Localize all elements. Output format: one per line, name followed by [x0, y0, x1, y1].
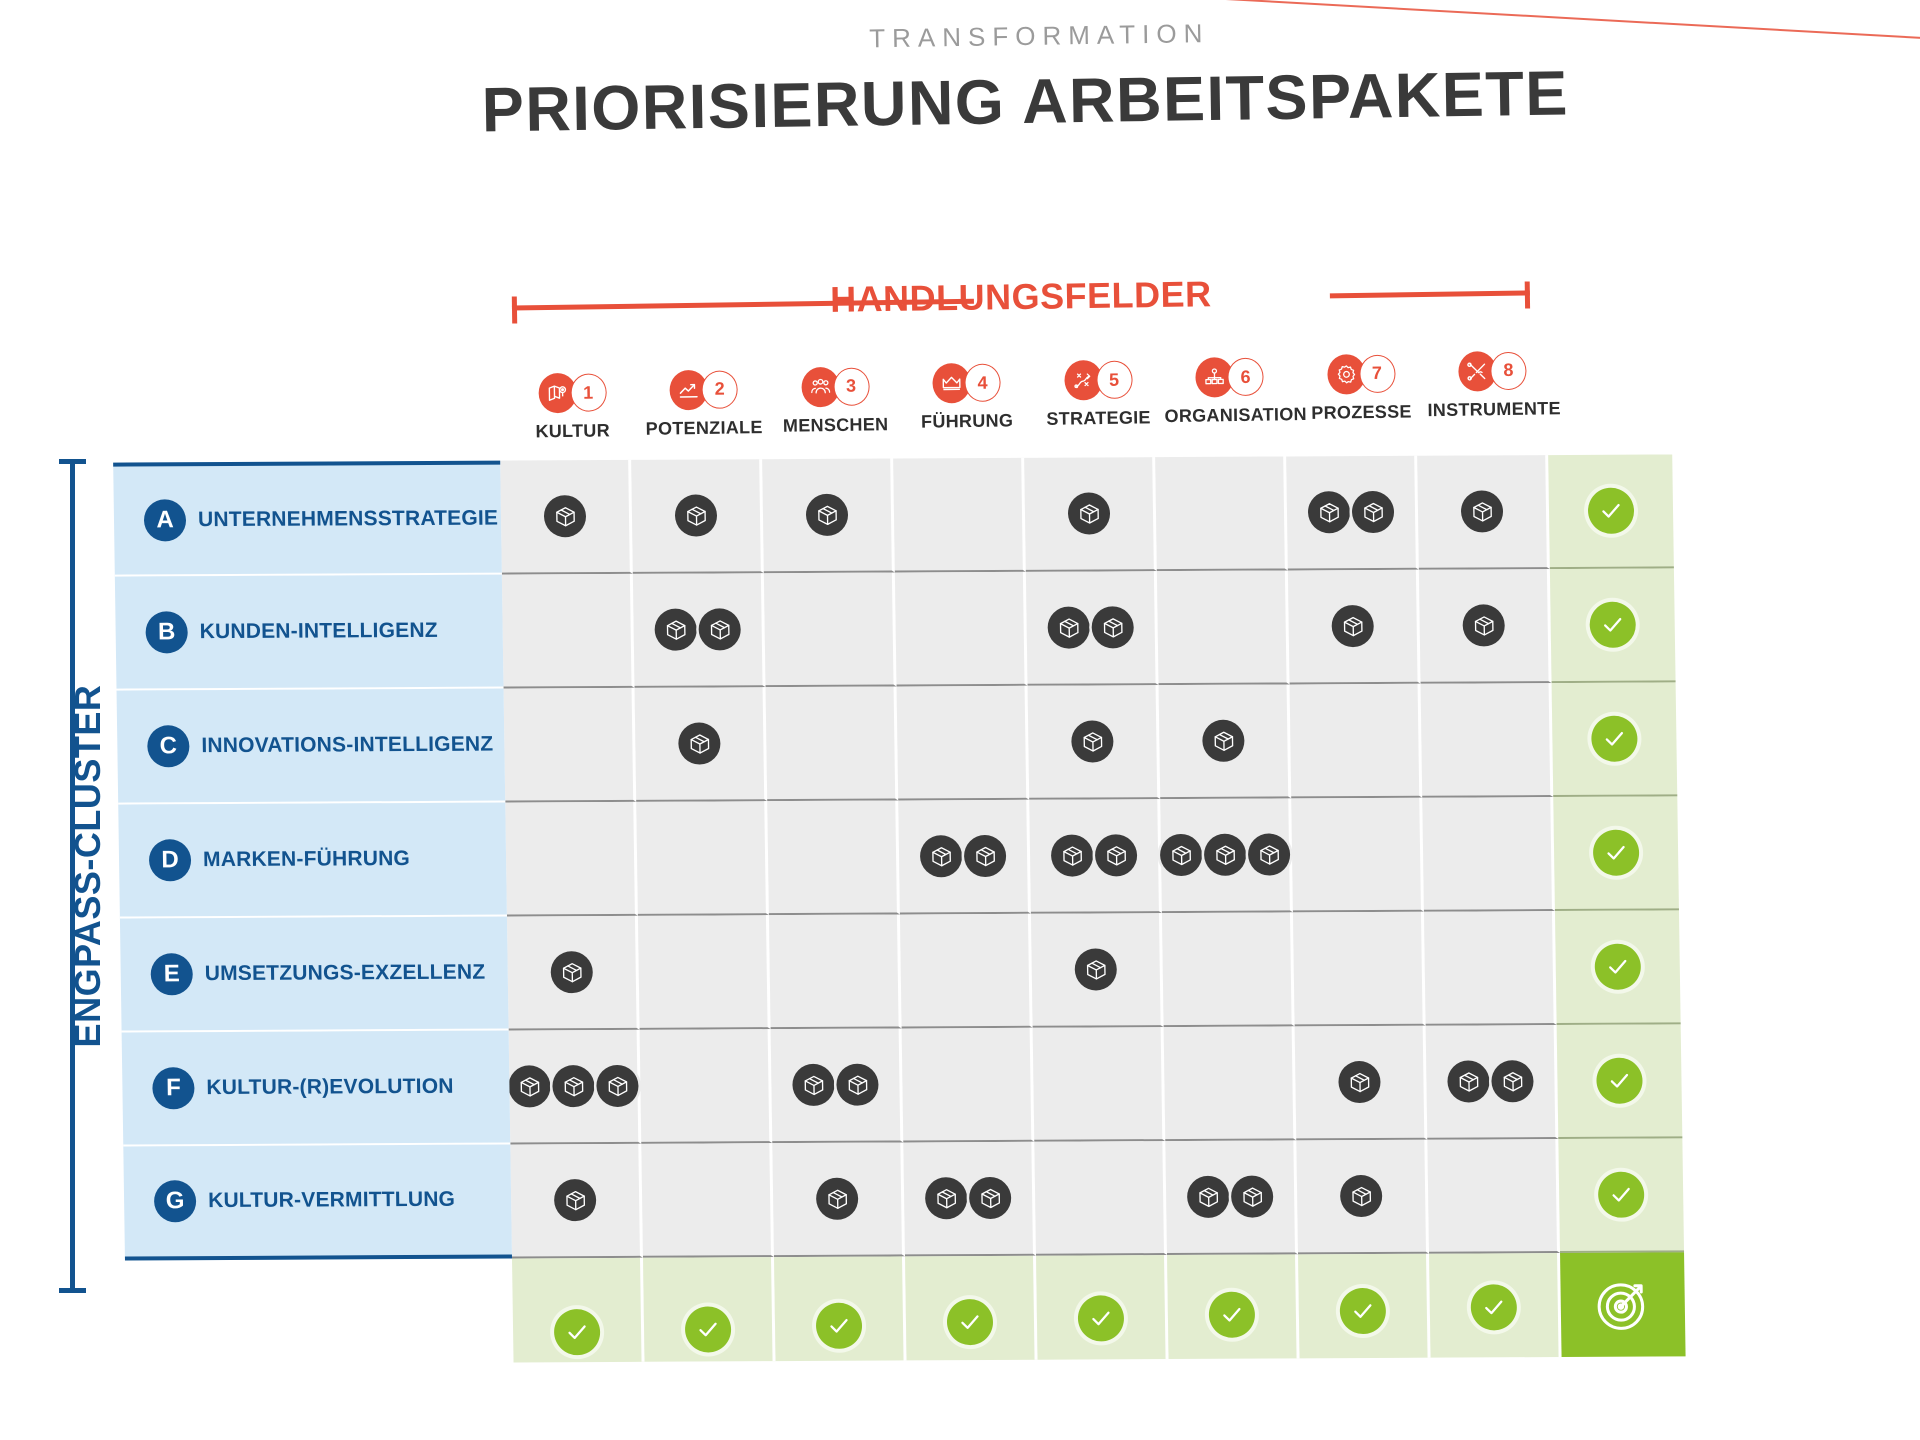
column-number-badge: 8	[1490, 351, 1527, 390]
row-label-g[interactable]: GKULTUR-VERMITTLUNG	[123, 1145, 512, 1261]
column-summary-cell	[643, 1257, 776, 1362]
matrix-cell[interactable]	[633, 573, 766, 688]
matrix-cell[interactable]	[1157, 570, 1290, 685]
package-box-icon	[925, 1177, 968, 1219]
matrix-cell[interactable]	[1295, 1026, 1428, 1141]
check-icon	[1588, 488, 1635, 534]
matrix-cell[interactable]	[502, 574, 635, 689]
matrix-cell[interactable]	[504, 688, 637, 803]
matrix-cell[interactable]	[1293, 912, 1426, 1027]
column-header-prozesse[interactable]: 7PROZESSE	[1295, 353, 1427, 424]
check-icon	[1593, 830, 1640, 876]
matrix-cell[interactable]	[505, 802, 638, 917]
column-header-label: INSTRUMENTE	[1427, 398, 1558, 421]
column-summary-cell	[1298, 1254, 1431, 1359]
matrix-cell[interactable]	[1165, 1140, 1298, 1255]
package-box-icon	[969, 1177, 1012, 1219]
matrix-cell[interactable]	[771, 1028, 904, 1143]
check-icon	[1209, 1292, 1256, 1338]
row-label-f[interactable]: FKULTUR-(R)EVOLUTION	[122, 1031, 511, 1147]
column-number-badge: 3	[833, 367, 870, 406]
rows-axis-bracket: ENGPASS-CLUSTER	[38, 455, 108, 1295]
package-box-icon	[1051, 834, 1094, 876]
column-number-badge: 5	[1096, 361, 1133, 400]
package-box-icon	[806, 494, 849, 536]
column-header-label: POTENZIALE	[639, 417, 770, 440]
package-box-icon	[1447, 1060, 1490, 1102]
row-summary-cell	[1553, 796, 1679, 911]
infographic-root: TRANSFORMATION PRIORISIERUNG ARBEITSPAKE…	[0, 0, 1920, 1440]
column-header-icons: 7	[1295, 353, 1427, 395]
matrix-cell[interactable]	[764, 573, 897, 688]
column-summary-cell	[774, 1256, 907, 1361]
matrix-cell[interactable]	[893, 458, 1026, 573]
row-badge: G	[154, 1180, 197, 1222]
package-box-icon	[1231, 1176, 1274, 1218]
column-summary-cell	[1036, 1255, 1169, 1360]
bracket-cap-bottom	[59, 1288, 86, 1293]
matrix-cell[interactable]	[640, 1029, 773, 1144]
column-header-kultur[interactable]: 1KULTUR	[506, 372, 638, 443]
row-summary-cell	[1552, 682, 1678, 797]
column-header-icons: 5	[1032, 359, 1164, 401]
matrix-cell[interactable]	[1164, 1026, 1297, 1141]
column-number-badge: 1	[570, 373, 607, 412]
package-box-icon	[1461, 490, 1504, 532]
package-box-icon	[508, 1065, 551, 1107]
matrix-cell[interactable]	[1422, 797, 1555, 912]
column-header-label: STRATEGIE	[1033, 407, 1164, 430]
rows-axis-label: ENGPASS-CLUSTER	[67, 516, 109, 1216]
matrix-cell[interactable]	[903, 1142, 1036, 1257]
package-box-icon	[654, 609, 697, 651]
package-box-icon	[1338, 1061, 1381, 1103]
matrix-cell[interactable]	[1291, 798, 1424, 913]
matrix-cell[interactable]	[769, 914, 902, 1029]
matrix-cell[interactable]	[636, 801, 769, 916]
matrix-cell[interactable]	[1162, 912, 1295, 1027]
columns-axis-bracket: HANDLUNGSFELDER	[512, 268, 1531, 343]
row-badge: A	[144, 499, 187, 541]
matrix-cell[interactable]	[1286, 456, 1419, 571]
check-icon	[1596, 1058, 1643, 1104]
matrix-cell[interactable]	[510, 1144, 643, 1259]
matrix-cell[interactable]	[1288, 570, 1421, 685]
package-box-icon	[1248, 833, 1291, 875]
bracket-cap-top	[59, 459, 86, 464]
row-label-text: KUNDEN-INTELLIGENZ	[199, 619, 437, 644]
column-header-icons: 1	[506, 372, 638, 414]
matrix-cell[interactable]	[1033, 1027, 1166, 1142]
package-box-icon	[1160, 834, 1203, 876]
matrix-cell[interactable]	[1031, 913, 1164, 1028]
matrix-cell[interactable]	[1421, 683, 1554, 798]
matrix-cell[interactable]	[1026, 571, 1159, 686]
package-box-icon	[1204, 834, 1247, 876]
matrix-cell[interactable]	[507, 916, 640, 1031]
matrix-cell[interactable]	[1426, 1025, 1559, 1140]
matrix-cell[interactable]	[897, 686, 1030, 801]
row-label-text: INNOVATIONS-INTELLIGENZ	[201, 733, 493, 759]
check-icon	[1591, 716, 1638, 762]
package-box-icon	[1331, 605, 1374, 647]
check-icon	[1598, 1172, 1645, 1218]
check-icon	[1589, 602, 1636, 648]
column-summary-cell	[905, 1256, 1038, 1361]
package-box-icon	[1187, 1176, 1230, 1218]
column-summary-cell	[1167, 1254, 1300, 1359]
package-box-icon	[920, 835, 963, 877]
row-badge: F	[152, 1067, 195, 1109]
column-header-label: ORGANISATION	[1164, 404, 1295, 427]
matrix-cell[interactable]	[1155, 456, 1288, 571]
matrix-cell[interactable]	[631, 459, 764, 574]
matrix-cell[interactable]	[772, 1142, 905, 1257]
row-summary-cell	[1558, 1138, 1684, 1253]
matrix-cell[interactable]	[1028, 685, 1161, 800]
package-box-icon	[1095, 834, 1138, 876]
row-badge: B	[145, 611, 188, 653]
matrix-cell[interactable]	[641, 1143, 774, 1258]
matrix-cell[interactable]	[1160, 798, 1293, 913]
row-summary-cell	[1550, 568, 1676, 683]
check-icon	[685, 1306, 732, 1352]
package-box-icon	[1352, 491, 1395, 533]
check-icon	[1470, 1284, 1517, 1330]
package-box-icon	[675, 494, 718, 536]
columns-axis-label: HANDLUNGSFELDER	[512, 268, 1531, 325]
column-header-instrumente[interactable]: 8INSTRUMENTE	[1427, 350, 1559, 421]
check-icon	[1340, 1288, 1387, 1334]
matrix-cell[interactable]	[1424, 911, 1557, 1026]
matrix-cell[interactable]	[1427, 1139, 1560, 1254]
package-box-icon	[816, 1178, 859, 1220]
row-label-c[interactable]: CINNOVATIONS-INTELLIGENZ	[117, 689, 506, 805]
column-summary-cell	[512, 1258, 645, 1363]
matrix-cell[interactable]	[1159, 684, 1292, 799]
row-badge: E	[150, 953, 193, 995]
column-header-label: PROZESSE	[1296, 401, 1427, 424]
title-block: TRANSFORMATION PRIORISIERUNG ARBEITSPAKE…	[0, 7, 1920, 154]
column-header-icons: 6	[1164, 356, 1296, 398]
column-header-icons: 4	[901, 362, 1033, 404]
matrix-cell[interactable]	[1296, 1140, 1429, 1255]
column-number-badge: 6	[1227, 358, 1264, 397]
package-box-icon	[1074, 948, 1117, 990]
matrix-cell[interactable]	[895, 572, 1028, 687]
package-box-icon	[552, 1065, 595, 1107]
row-label-d[interactable]: DMARKEN-FÜHRUNG	[118, 803, 507, 919]
package-box-icon	[596, 1065, 639, 1107]
package-box-icon	[1071, 720, 1114, 762]
column-summary-cell	[1429, 1253, 1562, 1358]
matrix-cell[interactable]	[635, 687, 768, 802]
package-box-icon	[544, 495, 587, 537]
matrix-cell[interactable]	[766, 686, 899, 801]
row-label-text: MARKEN-FÜHRUNG	[203, 847, 410, 872]
row-label-text: UMSETZUNGS-EXZELLENZ	[205, 961, 486, 986]
page-title: PRIORISIERUNG ARBEITSPAKETE	[0, 52, 1920, 154]
row-label-e[interactable]: EUMSETZUNGS-EXZELLENZ	[120, 917, 509, 1033]
row-badge: D	[149, 839, 192, 881]
package-box-icon	[1308, 491, 1351, 533]
matrix-cell[interactable]	[900, 914, 1033, 1029]
package-box-icon	[554, 1179, 597, 1221]
column-header-führung[interactable]: 4FÜHRUNG	[901, 362, 1033, 433]
column-header-menschen[interactable]: 3MENSCHEN	[769, 366, 901, 437]
check-icon	[1078, 1295, 1125, 1341]
package-box-icon	[1202, 720, 1245, 762]
package-box-icon	[964, 835, 1007, 877]
target-bullseye-icon	[1560, 1252, 1686, 1357]
check-icon	[947, 1299, 994, 1345]
row-label-text: UNTERNEHMENSSTRATEGIE	[198, 507, 499, 533]
matrix-cell[interactable]	[500, 460, 633, 575]
summary-row-spacer	[125, 1258, 514, 1364]
package-box-icon	[1462, 604, 1505, 646]
package-box-icon	[550, 951, 593, 993]
column-header-label: FÜHRUNG	[901, 410, 1032, 433]
row-label-text: KULTUR-(R)EVOLUTION	[206, 1075, 454, 1100]
check-icon	[554, 1309, 601, 1355]
package-box-icon	[836, 1064, 879, 1106]
matrix-cell[interactable]	[1034, 1141, 1167, 1256]
package-box-icon	[678, 722, 721, 764]
row-label-a[interactable]: AUNTERNEHMENSSTRATEGIE	[113, 461, 502, 577]
column-header-organisation[interactable]: 6ORGANISATION	[1164, 356, 1296, 427]
row-badge: C	[147, 725, 190, 767]
column-headers: 1KULTUR2POTENZIALE3MENSCHEN4FÜHRUNG5STRA…	[506, 358, 1562, 466]
matrix-cell[interactable]	[1417, 455, 1550, 570]
row-label-text: KULTUR-VERMITTLUNG	[208, 1188, 455, 1213]
row-label-b[interactable]: BKUNDEN-INTELLIGENZ	[115, 575, 504, 691]
row-summary-cell	[1548, 454, 1674, 569]
column-header-icons: 8	[1427, 350, 1559, 392]
column-header-icons: 3	[769, 366, 901, 408]
package-box-icon	[1491, 1060, 1534, 1102]
matrix-cell[interactable]	[1024, 457, 1157, 572]
package-box-icon	[698, 608, 741, 650]
matrix-cell[interactable]	[902, 1028, 1035, 1143]
column-header-icons: 2	[638, 369, 770, 411]
column-header-label: MENSCHEN	[770, 414, 901, 437]
column-number-badge: 4	[964, 364, 1001, 403]
matrix-cell[interactable]	[509, 1030, 642, 1145]
matrix-cell[interactable]	[638, 915, 771, 1030]
matrix-cell[interactable]	[1290, 684, 1423, 799]
package-box-icon	[1068, 492, 1111, 534]
column-header-strategie[interactable]: 5STRATEGIE	[1032, 359, 1164, 430]
package-box-icon	[792, 1064, 835, 1106]
matrix-cell[interactable]	[898, 800, 1031, 915]
check-icon	[1594, 944, 1641, 990]
matrix-cell[interactable]	[762, 459, 895, 574]
package-box-icon	[1047, 606, 1090, 648]
column-number-badge: 2	[701, 370, 738, 409]
package-box-icon	[1091, 606, 1134, 648]
row-summary-cell	[1557, 1024, 1683, 1139]
matrix-cell[interactable]	[1419, 569, 1552, 684]
column-header-label: KULTUR	[507, 420, 638, 443]
matrix-cell[interactable]	[1029, 799, 1162, 914]
check-icon	[816, 1303, 863, 1349]
column-number-badge: 7	[1359, 354, 1396, 393]
priority-matrix: AUNTERNEHMENSSTRATEGIE BKUNDEN-INTELLIGE…	[113, 453, 1867, 1382]
package-box-icon	[1340, 1175, 1383, 1217]
column-header-potenziale[interactable]: 2POTENZIALE	[638, 369, 770, 440]
matrix-cell[interactable]	[767, 800, 900, 915]
row-summary-cell	[1555, 910, 1681, 1025]
